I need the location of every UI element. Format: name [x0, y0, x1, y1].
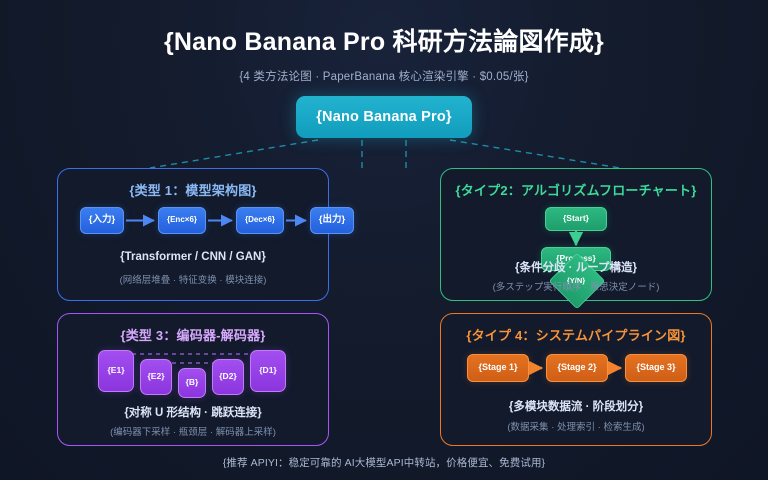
node-stage-3-label: {Stage 3} — [636, 363, 675, 373]
node-start[interactable]: {Start} — [545, 207, 607, 231]
panel-1-title: {类型 1：模型架构图} — [58, 180, 328, 199]
node-encoder[interactable]: {Enc×6} — [158, 207, 206, 234]
node-bottleneck[interactable]: {B} — [178, 368, 206, 398]
node-encoder-label: {Enc×6} — [167, 216, 197, 225]
node-input[interactable]: {入力} — [80, 207, 124, 234]
panel-4-subcaption: (数据采集 · 处理索引 · 检索生成) — [441, 419, 711, 433]
page-header: {Nano Banana Pro 科研方法論図作成} {4 类方法论图 · Pa… — [0, 0, 768, 84]
node-stage-2[interactable]: {Stage 2} — [546, 354, 608, 382]
node-encoder-2[interactable]: {E2} — [140, 359, 172, 395]
node-start-label: {Start} — [563, 214, 589, 223]
node-stage-2-label: {Stage 2} — [557, 363, 596, 373]
node-decoder-label: {Dec×6} — [245, 216, 275, 225]
node-output[interactable]: {出力} — [310, 207, 354, 234]
root-node-nano-banana-pro[interactable]: {Nano Banana Pro} — [296, 96, 472, 138]
panel-2-title: {タイプ2：アルゴリズムフローチャート} — [441, 180, 711, 199]
node-b-label: {B} — [186, 378, 199, 387]
node-encoder-1[interactable]: {E1} — [98, 350, 134, 392]
panel-2-caption: {条件分歧 · ループ構造} — [441, 259, 711, 275]
page-title: {Nano Banana Pro 科研方法論図作成} — [0, 0, 768, 58]
panel-1-subcaption: (网络层堆叠 · 特征变换 · 模块连接) — [58, 272, 328, 286]
panel-3-title: {类型 3：编码器-解码器} — [58, 325, 328, 344]
node-input-label: {入力} — [89, 215, 115, 225]
node-stage-1[interactable]: {Stage 1} — [467, 354, 529, 382]
panel-type-4-system-pipeline[interactable]: {タイプ 4：システムパイプライン図} {Stage 1} {Stage 2} … — [440, 313, 712, 446]
node-d2-label: {D2} — [219, 372, 236, 381]
node-decoder-1[interactable]: {D1} — [250, 350, 286, 392]
page-subtitle: {4 类方法论图 · PaperBanana 核心渲染引擎 · $0.05/张} — [0, 58, 768, 84]
panel-3-caption: {对称 U 形结构 · 跳跃连接} — [58, 404, 328, 420]
panel-type-3-encoder-decoder[interactable]: {类型 3：编码器-解码器} {E1} {E2} {B} {D2} {D1} {… — [57, 313, 329, 446]
panel-1-caption: {Transformer / CNN / GAN} — [58, 251, 328, 263]
node-stage-1-label: {Stage 1} — [478, 363, 517, 373]
panel-3-subcaption: (编码器下采样 · 瓶颈层 · 解码器上采样) — [58, 424, 328, 438]
panel-type-2-algorithm-flowchart[interactable]: {タイプ2：アルゴリズムフローチャート} {Start} {Process} {… — [440, 168, 712, 301]
node-stage-3[interactable]: {Stage 3} — [625, 354, 687, 382]
node-decoder[interactable]: {Dec×6} — [236, 207, 284, 234]
node-decoder-2[interactable]: {D2} — [212, 359, 244, 395]
node-output-label: {出力} — [319, 215, 345, 225]
footer-note: {推荐 APIYI：稳定可靠的 AI大模型API中转站，价格便宜、免费试用} — [0, 455, 768, 470]
node-e1-label: {E1} — [107, 366, 124, 375]
panel-4-caption: {多模块数据流 · 阶段划分} — [441, 398, 711, 414]
node-d1-label: {D1} — [259, 366, 276, 375]
root-node-label: {Nano Banana Pro} — [316, 109, 452, 125]
panel-4-title: {タイプ 4：システムパイプライン図} — [441, 325, 711, 344]
node-e2-label: {E2} — [147, 372, 164, 381]
panel-type-1-model-architecture[interactable]: {类型 1：模型架构图} {入力} {Enc×6} {Dec×6} {出力} {… — [57, 168, 329, 301]
panel-2-subcaption: (多ステップ実行順序 · 意思決定ノード) — [441, 279, 711, 293]
